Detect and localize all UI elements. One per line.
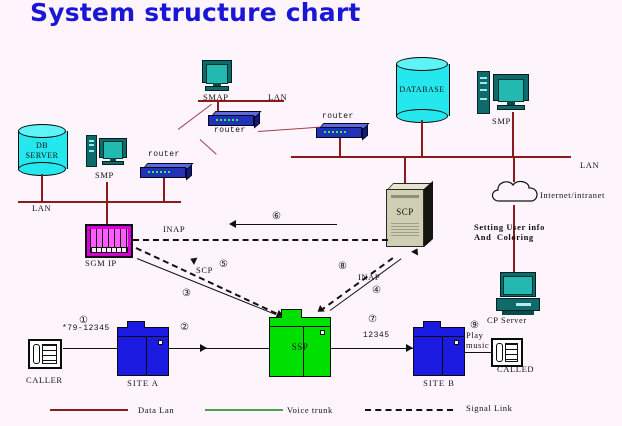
step-marker-2: ②: [180, 322, 190, 333]
ssp-to-siteb-line: [331, 348, 413, 349]
database-drop: [421, 120, 423, 157]
lan-bus-right: [291, 156, 571, 158]
siteb-to-called-line: [465, 352, 493, 353]
arrow-step6-line: [232, 224, 337, 225]
router-right-drop: [339, 138, 341, 157]
inap-top-label: INAP: [163, 224, 185, 234]
lan-label-right: LAN: [580, 160, 599, 170]
cabinet-indicator: [454, 340, 459, 345]
router-leds: [148, 171, 172, 173]
cabinet-topline: [118, 336, 168, 337]
monitor-screen: [206, 64, 228, 84]
phone-keypad: [505, 343, 518, 362]
database-label: DATABASE: [396, 85, 448, 95]
router-leds: [324, 131, 348, 133]
db-server-drop: [41, 174, 43, 202]
caller-label: CALLER: [26, 375, 63, 385]
arrow-step5-head: [189, 255, 198, 265]
step-marker-3: ③: [182, 288, 192, 299]
site-b-label: SITE B: [392, 378, 486, 388]
sgm-ip-node: [85, 224, 133, 258]
cabinet-seam: [442, 336, 443, 375]
db-cylinder-top: [396, 57, 448, 71]
cloud-shape: [487, 177, 543, 207]
lan-label-top: LAN: [268, 92, 287, 102]
router-mid-downlink: [200, 139, 217, 154]
database-node: DATABASE: [396, 57, 448, 123]
tower-bay: [480, 89, 487, 91]
setting-user-info-note: Setting User info And Coloring: [474, 222, 545, 242]
legend-swatch-signal-link: [365, 409, 453, 411]
tower-bay: [89, 140, 94, 142]
sitea-to-ssp-line: [169, 348, 269, 349]
db-server-label: DB SERVER: [18, 141, 66, 161]
site-a-node: SITE A: [117, 327, 169, 376]
lan-left-to-sgm: [106, 201, 108, 224]
arrow-step5-dashed: [136, 247, 277, 314]
tower-bay: [89, 144, 94, 146]
tower-bay: [480, 98, 487, 100]
smap-monitor: [202, 60, 232, 92]
smp-right-label: SMP: [492, 116, 511, 126]
cp-server-label: CP Server: [487, 315, 527, 325]
router-mid-label: router: [214, 126, 246, 135]
lan-label-left: LAN: [32, 203, 51, 213]
router-left-to-mid-link: [178, 104, 212, 130]
cp-server-node: [496, 272, 540, 314]
router-mid-to-right-link: [258, 127, 320, 132]
cabinet-indicator: [158, 340, 163, 345]
phone-handset: [33, 344, 40, 364]
legend-label-data-lan: Data Lan: [138, 405, 174, 415]
smp-left-tower: [86, 135, 97, 167]
pc-drive-slot: [516, 303, 531, 306]
tower-bay: [480, 77, 487, 79]
scp-link-label: SCP: [196, 265, 213, 275]
sitea-to-ssp-head: [200, 344, 207, 352]
cabinet-lid: [423, 321, 441, 328]
pc-screen: [503, 276, 533, 294]
dial-string-label: *79-12345: [62, 324, 110, 333]
cabinet-seam: [146, 336, 147, 375]
smp-right-tower: [477, 71, 490, 114]
ssp-label: SSP: [270, 318, 330, 376]
legend-label-signal-link: Signal Link: [466, 403, 513, 413]
step-marker-5: ⑤: [219, 259, 229, 270]
scp-side-face: [424, 181, 433, 247]
play-music-note: Play music: [466, 330, 489, 350]
legend-label-voice-trunk: Voice trunk: [287, 405, 333, 415]
smp-left-monitor: [99, 138, 127, 166]
cabinet-lid: [281, 309, 303, 318]
step-marker-7: ⑦: [368, 314, 378, 325]
inap-right-label: INAP: [358, 272, 380, 282]
diagram-canvas: System structure chart LAN DB SERVER SMP…: [0, 0, 622, 426]
tower-bay: [480, 82, 487, 84]
site-a-label: SITE A: [96, 378, 190, 388]
ssp-node: SSP: [269, 317, 331, 377]
smp-right-drop: [512, 112, 514, 157]
smp-right-monitor: [493, 74, 529, 112]
scp-vents: [391, 223, 419, 237]
page-title: System structure chart: [30, 0, 361, 27]
step-marker-6: ⑥: [272, 211, 282, 222]
arrow-step8-dashed: [319, 257, 393, 312]
router-leds: [216, 119, 240, 121]
phone-handset: [496, 343, 503, 362]
sgm-ip-label: SGM IP: [85, 258, 117, 268]
site-b-node: SITE B: [413, 327, 465, 376]
cabinet-topline: [414, 336, 464, 337]
monitor-screen: [103, 141, 124, 158]
monitor-screen: [498, 79, 525, 103]
smp-left-label: SMP: [95, 170, 114, 180]
legend-swatch-voice-trunk: [205, 409, 283, 411]
scp-label: SCP: [386, 207, 424, 217]
router-mid-node: [208, 111, 262, 127]
step-marker-4: ④: [372, 285, 382, 296]
internet-cloud: [487, 177, 543, 207]
called-number-label: 12345: [363, 331, 390, 340]
step-marker-8: ⑧: [338, 261, 348, 272]
arrow-step6-head: [229, 220, 236, 228]
router-left-drop: [163, 178, 165, 202]
scp-node: SCP: [386, 183, 436, 249]
caller-to-sitea-line: [63, 348, 119, 349]
monitor-base: [102, 161, 124, 165]
cabinet-lid: [127, 321, 145, 328]
ssp-to-siteb-head: [406, 344, 413, 352]
router-left-node: [140, 163, 194, 179]
router-right-label: router: [322, 112, 354, 121]
called-label: CALLED: [497, 364, 534, 374]
db-cylinder-top: [18, 124, 66, 138]
inap-dashed-bus: [133, 239, 388, 241]
scp-drive-bar: [391, 195, 419, 198]
db-server-node: DB SERVER: [18, 124, 66, 176]
called-phone: [491, 338, 523, 367]
caller-phone: [28, 339, 62, 369]
smp-left-drop: [106, 182, 108, 202]
monitor-base: [497, 105, 526, 110]
legend-swatch-data-lan: [50, 409, 128, 411]
phone-keypad: [42, 344, 57, 364]
monitor-base: [205, 86, 229, 90]
router-left-label: router: [148, 150, 180, 159]
cloud-label: Internet/intranet: [540, 190, 605, 200]
tower-bay: [89, 150, 94, 152]
rack-port-strip: [90, 247, 128, 253]
router-right-node: [316, 123, 370, 139]
